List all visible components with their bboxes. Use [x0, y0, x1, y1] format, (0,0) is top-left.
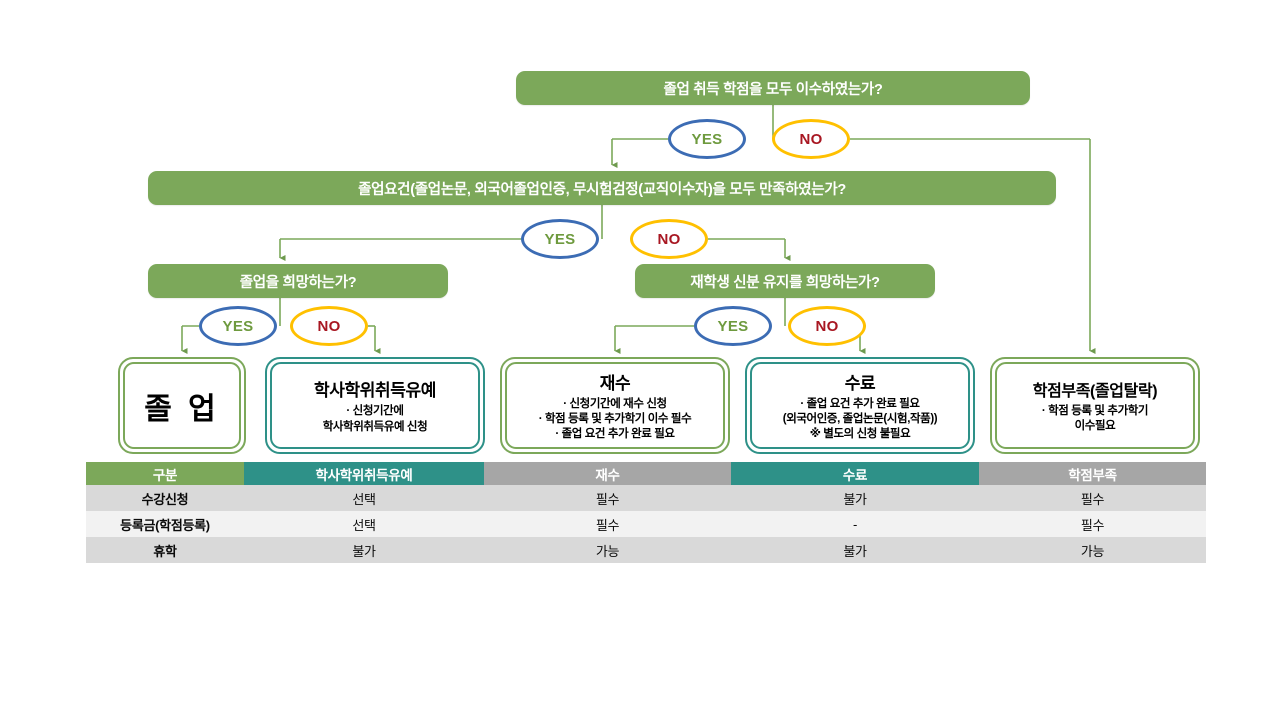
table-cell-2-1: 가능 — [484, 537, 731, 563]
question-box-credits: 졸업 취득 학점을 모두 이수하였는가? — [516, 71, 1030, 105]
result-title-degree-deferral: 학사학위취득유예 — [314, 376, 436, 401]
decision-yes-wish-enrolled: YES — [694, 306, 772, 346]
decision-yes-credits: YES — [668, 119, 746, 159]
result-body-line: · 졸업 요건 추가 완료 필요 — [539, 427, 692, 442]
table-header-row: 구분학사학위취득유예재수수료학점부족 — [86, 462, 1206, 485]
table-header-cell-0: 구분 — [86, 462, 244, 485]
table-row: 등록금(학점등록)선택필수-필수 — [86, 511, 1206, 537]
table-cell-1-2: - — [731, 511, 979, 537]
result-body-retake: · 신청기간에 재수 신청· 학점 등록 및 추가학기 이수 필수· 졸업 요건… — [539, 397, 692, 443]
result-body-line: · 신청기간에 — [323, 404, 428, 419]
result-title-completion: 수료 — [845, 369, 875, 394]
result-box-completion: 수료 · 졸업 요건 추가 완료 필요(외국어인증, 졸업논문(시험,작품))※… — [745, 357, 975, 454]
table-row-header: 수강신청 — [86, 485, 244, 511]
comparison-table: 구분학사학위취득유예재수수료학점부족 수강신청선택필수불가필수등록금(학점등록)… — [86, 462, 1206, 563]
result-body-line: (외국어인증, 졸업논문(시험,작품)) — [783, 412, 937, 427]
decision-no-wish-graduate: NO — [290, 306, 368, 346]
table-cell-1-1: 필수 — [484, 511, 731, 537]
table-cell-2-0: 불가 — [244, 537, 484, 563]
result-box-degree-deferral: 학사학위취득유예 · 신청기간에학사학위취득유예 신청 — [265, 357, 485, 454]
table-cell-0-0: 선택 — [244, 485, 484, 511]
result-box-credit-shortage: 학점부족(졸업탈락) · 학점 등록 및 추가학기이수필요 — [990, 357, 1200, 454]
decision-yes-wish-graduate: YES — [199, 306, 277, 346]
table-row: 수강신청선택필수불가필수 — [86, 485, 1206, 511]
result-body-line: 학사학위취득유예 신청 — [323, 420, 428, 435]
result-body-line: 이수필요 — [1042, 419, 1148, 434]
result-body-line: · 학점 등록 및 추가학기 이수 필수 — [539, 412, 692, 427]
table-row-header: 휴학 — [86, 537, 244, 563]
question-box-wish-enrolled-status: 재학생 신분 유지를 희망하는가? — [635, 264, 935, 298]
decision-yes-requirements: YES — [521, 219, 599, 259]
table-row: 휴학불가가능불가가능 — [86, 537, 1206, 563]
decision-no-wish-enrolled: NO — [788, 306, 866, 346]
result-body-credit-shortage: · 학점 등록 및 추가학기이수필요 — [1042, 404, 1148, 434]
result-body-line: · 학점 등록 및 추가학기 — [1042, 404, 1148, 419]
result-box-retake: 재수 · 신청기간에 재수 신청· 학점 등록 및 추가학기 이수 필수· 졸업… — [500, 357, 730, 454]
table-cell-0-2: 불가 — [731, 485, 979, 511]
question-box-wish-graduate: 졸업을 희망하는가? — [148, 264, 448, 298]
result-box-graduation: 졸 업 — [118, 357, 246, 454]
table-cell-0-3: 필수 — [979, 485, 1206, 511]
table-row-header: 등록금(학점등록) — [86, 511, 244, 537]
decision-no-credits: NO — [772, 119, 850, 159]
table-header-cell-2: 재수 — [484, 462, 731, 485]
result-body-completion: · 졸업 요건 추가 완료 필요(외국어인증, 졸업논문(시험,작품))※ 별도… — [783, 397, 937, 443]
table-cell-2-3: 가능 — [979, 537, 1206, 563]
result-title-retake: 재수 — [600, 369, 630, 394]
question-box-requirements: 졸업요건(졸업논문, 외국어졸업인증, 무시험검정(교직이수자)을 모두 만족하… — [148, 171, 1056, 205]
flowchart-canvas: 졸업 취득 학점을 모두 이수하였는가? 졸업요건(졸업논문, 외국어졸업인증,… — [0, 0, 1280, 720]
table-cell-2-2: 불가 — [731, 537, 979, 563]
result-body-line: ※ 별도의 신청 불필요 — [783, 427, 937, 442]
result-title-graduation: 졸 업 — [144, 384, 220, 428]
table-cell-1-0: 선택 — [244, 511, 484, 537]
table-header-cell-3: 수료 — [731, 462, 979, 485]
table-cell-0-1: 필수 — [484, 485, 731, 511]
table-cell-1-3: 필수 — [979, 511, 1206, 537]
result-body-line: · 졸업 요건 추가 완료 필요 — [783, 397, 937, 412]
table-header-cell-4: 학점부족 — [979, 462, 1206, 485]
decision-no-requirements: NO — [630, 219, 708, 259]
result-body-degree-deferral: · 신청기간에학사학위취득유예 신청 — [323, 404, 428, 434]
table-header-cell-1: 학사학위취득유예 — [244, 462, 484, 485]
result-title-credit-shortage: 학점부족(졸업탈락) — [1033, 377, 1157, 401]
result-body-line: · 신청기간에 재수 신청 — [539, 397, 692, 412]
